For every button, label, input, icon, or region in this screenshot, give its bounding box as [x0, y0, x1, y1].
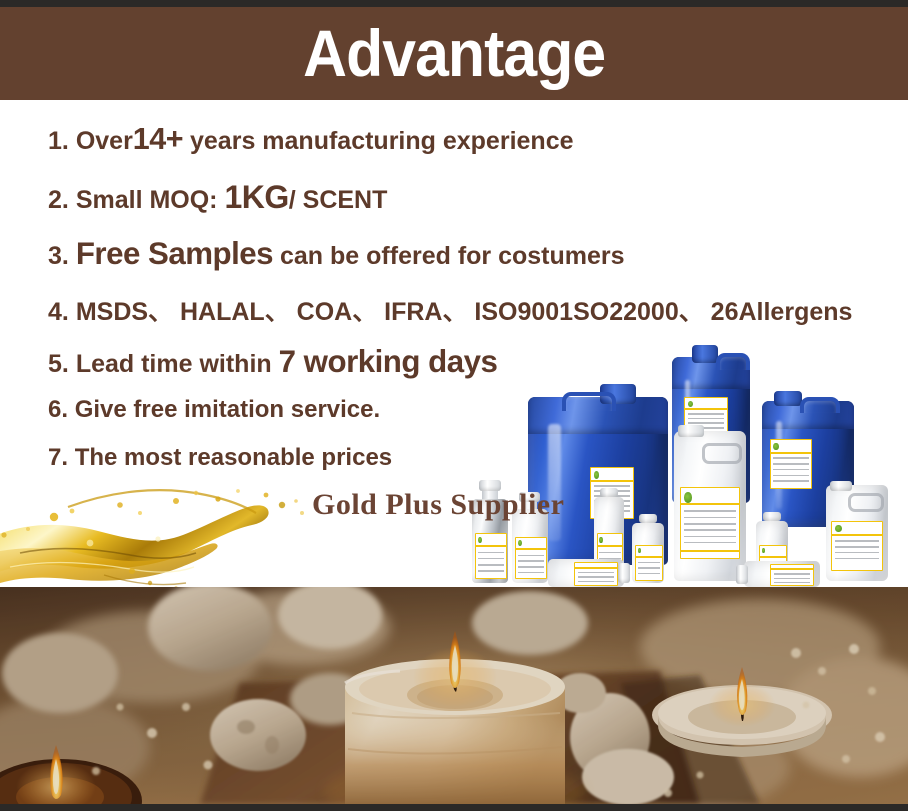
product-label — [770, 439, 812, 489]
advantage-1-emphasis: 14+ — [133, 122, 183, 156]
white-bottle-500ml — [632, 523, 664, 583]
advantage-7-number: 7. — [48, 444, 68, 471]
header-band: Advantage — [0, 7, 908, 100]
advantage-item-2: 2. Small MOQ: 1KG/ SCENT — [48, 179, 387, 216]
label-logo-icon — [684, 492, 692, 503]
content-area: 1. Over14+ years manufacturing experienc… — [0, 100, 908, 587]
advantage-item-3: 3. Free Samples can be offered for costu… — [48, 236, 625, 272]
white-jug-5l — [674, 431, 746, 581]
white-bottle-500ml-cap — [639, 514, 657, 523]
advantage-1-number: 1. — [48, 127, 69, 155]
white-bottle-100ml-cap — [763, 512, 781, 521]
advantage-2-number: 2. — [48, 186, 69, 214]
advantage-item-7: 7. The most reasonable prices — [48, 444, 392, 472]
advantage-1-pre: Over — [76, 127, 133, 155]
label-yellow-bar — [832, 534, 882, 536]
advantage-item-4: 4. MSDS、 HALAL、 COA、 IFRA、 ISO9001SO2200… — [48, 292, 852, 328]
advantage-4-number: 4. — [48, 298, 69, 326]
advantage-6-number: 6. — [48, 396, 68, 423]
oil-splash-graphic — [0, 455, 330, 587]
label-yellow-bar — [681, 550, 739, 552]
jerrycan-handle — [716, 353, 750, 370]
jug-handle — [702, 443, 742, 464]
advantage-6-text: Give free imitation service. — [75, 396, 380, 423]
jerrycan-cap — [692, 345, 718, 363]
jug-handle — [848, 493, 884, 512]
white-bottle-lying-front-cap — [618, 563, 630, 583]
jerrycan-cap — [774, 391, 802, 406]
advantage-3-emphasis: Free Samples — [76, 236, 273, 271]
label-yellow-bar — [516, 548, 546, 550]
label-yellow-bar — [476, 545, 506, 547]
advantage-5-number: 5. — [48, 350, 69, 378]
advantage-7-text: The most reasonable prices — [75, 444, 392, 471]
advantage-item-1: 1. Over14+ years manufacturing experienc… — [48, 122, 574, 157]
white-jug-cap — [678, 425, 704, 437]
white-jug-right-cap — [830, 481, 852, 491]
advantage-2-emphasis: 1KG — [224, 179, 288, 215]
label-yellow-bar — [760, 556, 786, 558]
gold-plus-supplier-badge: Gold Plus Supplier — [312, 488, 564, 522]
product-label — [515, 537, 547, 579]
label-logo-icon — [478, 537, 482, 544]
product-label — [831, 521, 883, 571]
label-logo-icon — [518, 540, 522, 546]
label-yellow-bar — [636, 556, 662, 558]
label-yellow-bar — [771, 568, 813, 570]
product-label — [770, 564, 814, 586]
advantage-3-post: can be offered for costumers — [280, 242, 625, 270]
label-yellow-bar — [598, 545, 622, 547]
white-jug-right — [826, 485, 888, 581]
white-bottle-lying-front — [548, 559, 624, 587]
advantage-3-number: 3. — [48, 242, 69, 270]
label-logo-icon — [638, 548, 641, 553]
label-logo-icon — [599, 537, 602, 544]
advantage-5-pre: Lead time within — [76, 350, 272, 378]
label-yellow-bar — [771, 452, 811, 454]
advantage-4-text: MSDS、 HALAL、 COA、 IFRA、 ISO9001SO22000、 … — [76, 298, 853, 326]
jerrycan-handle — [562, 392, 616, 411]
white-bottle-lying-right-cap — [736, 565, 748, 584]
advantage-poster: Advantage — [0, 0, 908, 811]
label-logo-icon — [594, 471, 599, 479]
jerrycan-highlight — [548, 424, 561, 542]
label-yellow-bar — [685, 408, 727, 410]
label-logo-icon — [835, 525, 842, 532]
product-lineup — [450, 305, 908, 587]
product-label — [574, 562, 618, 586]
label-logo-icon — [773, 443, 778, 450]
bottom-strip — [0, 804, 908, 811]
jerrycan-handle — [800, 397, 840, 412]
advantage-5-emphasis: 7 working days — [279, 344, 498, 379]
product-label — [635, 545, 663, 581]
advantage-1-post: years manufacturing experience — [190, 127, 574, 155]
label-yellow-bar — [575, 567, 617, 569]
label-yellow-bar — [591, 480, 633, 482]
page-title: Advantage — [303, 20, 605, 86]
advantage-item-5: 5. Lead time within 7 working days — [48, 344, 497, 380]
top-strip — [0, 0, 908, 7]
advantage-2-post: / SCENT — [289, 186, 388, 214]
advantage-item-6: 6. Give free imitation service. — [48, 396, 380, 424]
white-bottle-250ml-cap — [600, 488, 618, 497]
label-logo-icon — [688, 401, 693, 407]
advantage-2-pre: Small MOQ: — [76, 186, 218, 214]
product-label — [680, 487, 740, 559]
label-logo-icon — [762, 548, 765, 553]
label-yellow-bar — [681, 503, 739, 505]
spa-candles-photo — [0, 587, 908, 804]
white-bottle-lying-right — [744, 561, 820, 587]
product-label — [475, 533, 507, 579]
